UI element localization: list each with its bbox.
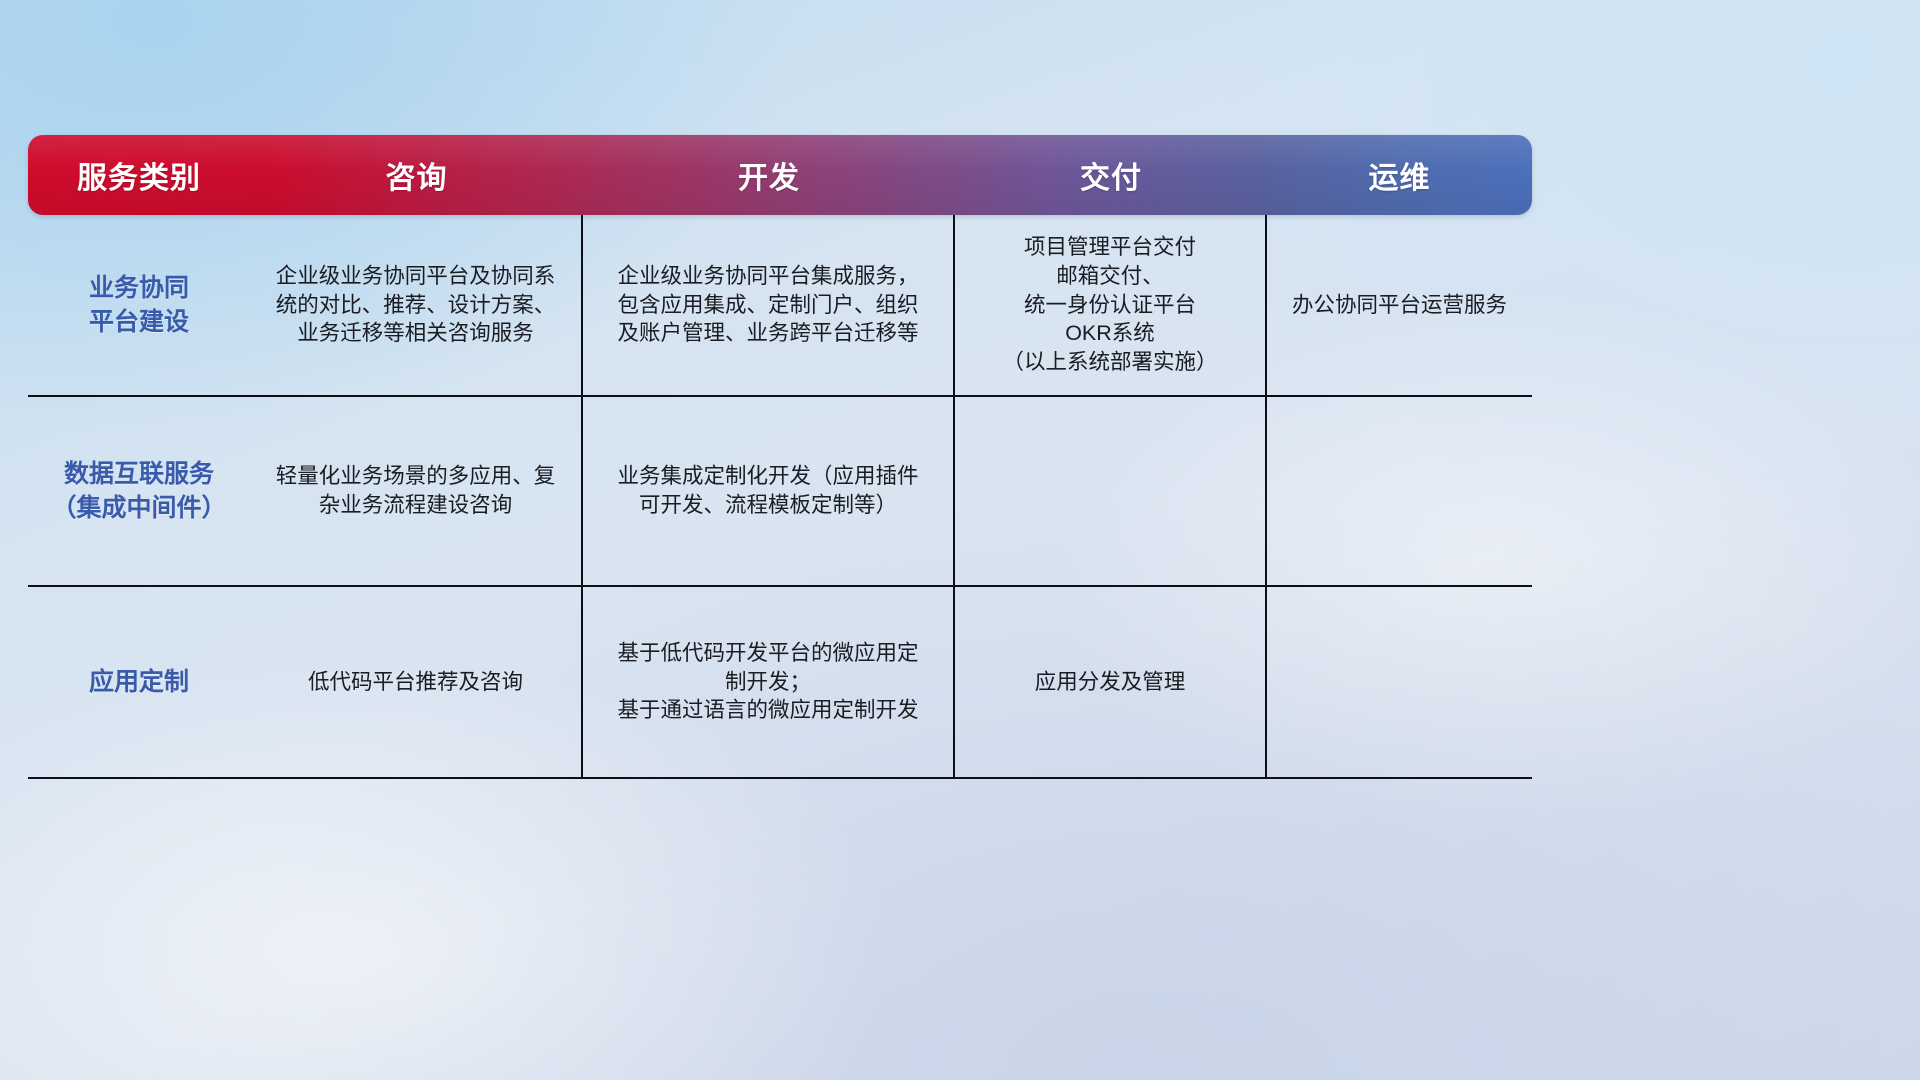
row-category-label: 应用定制 bbox=[28, 587, 250, 777]
table-header-delivery: 交付 bbox=[955, 153, 1267, 197]
table-body: 业务协同 平台建设 企业级业务协同平台及协同系 统的对比、推荐、设计方案、 业务… bbox=[28, 215, 1532, 779]
cell-delivery: 应用分发及管理 bbox=[955, 587, 1267, 777]
row-category-label: 业务协同 平台建设 bbox=[28, 215, 250, 395]
cell-development: 企业级业务协同平台集成服务， 包含应用集成、定制门户、组织 及账户管理、业务跨平… bbox=[583, 215, 955, 395]
service-matrix-table: 服务类别 咨询 开发 交付 运维 业务协同 平台建设 企业级业务协同平台及协同系… bbox=[28, 135, 1532, 775]
table-row: 应用定制 低代码平台推荐及咨询 基于低代码开发平台的微应用定 制开发； 基于通过… bbox=[28, 585, 1532, 777]
cell-consulting: 低代码平台推荐及咨询 bbox=[250, 587, 583, 777]
table-header-consulting: 咨询 bbox=[250, 153, 583, 197]
cell-operations bbox=[1267, 587, 1532, 777]
table-header-operations: 运维 bbox=[1267, 153, 1532, 197]
cell-delivery: 项目管理平台交付 邮箱交付、 统一身份认证平台 OKR系统 （以上系统部署实施） bbox=[955, 215, 1267, 395]
cell-development: 基于低代码开发平台的微应用定 制开发； 基于通过语言的微应用定制开发 bbox=[583, 587, 955, 777]
cell-consulting: 企业级业务协同平台及协同系 统的对比、推荐、设计方案、 业务迁移等相关咨询服务 bbox=[250, 215, 583, 395]
cell-consulting: 轻量化业务场景的多应用、复 杂业务流程建设咨询 bbox=[250, 397, 583, 585]
table-header-row: 服务类别 咨询 开发 交付 运维 bbox=[28, 135, 1532, 215]
cell-development: 业务集成定制化开发（应用插件 可开发、流程模板定制等） bbox=[583, 397, 955, 585]
table-row: 数据互联服务 （集成中间件） 轻量化业务场景的多应用、复 杂业务流程建设咨询 业… bbox=[28, 395, 1532, 585]
cell-operations bbox=[1267, 397, 1532, 585]
table-header-development: 开发 bbox=[583, 153, 955, 197]
cell-operations: 办公协同平台运营服务 bbox=[1267, 215, 1532, 395]
cell-delivery bbox=[955, 397, 1267, 585]
row-category-label: 数据互联服务 （集成中间件） bbox=[28, 397, 250, 585]
table-header-service-category: 服务类别 bbox=[28, 153, 250, 197]
table-row: 业务协同 平台建设 企业级业务协同平台及协同系 统的对比、推荐、设计方案、 业务… bbox=[28, 215, 1532, 395]
